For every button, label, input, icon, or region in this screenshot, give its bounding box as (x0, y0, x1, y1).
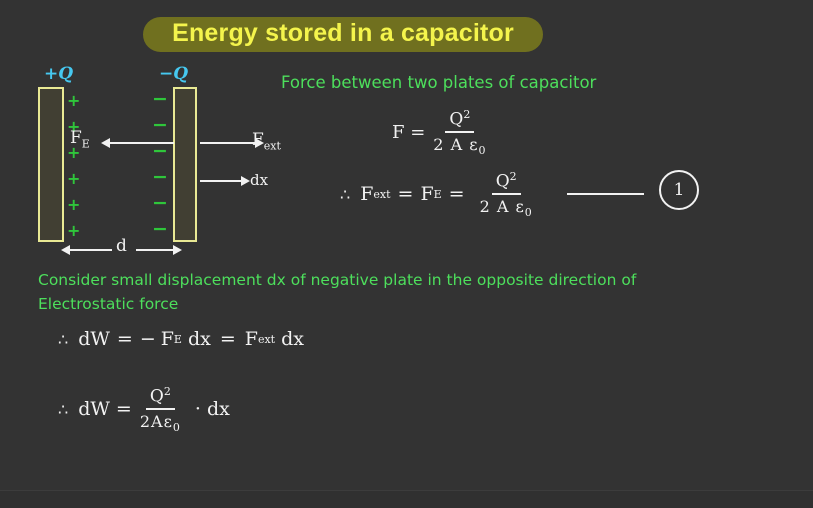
capacitor-diagram: +Q −Q + + + + + + − − − − − − FE Fext dx (28, 62, 288, 267)
plus-charge-mark: + (67, 198, 80, 212)
minus-charge-mark: − (152, 144, 168, 158)
external-force-label: Fext (252, 130, 281, 152)
separation-label: d (116, 236, 127, 256)
equation-work-denominator: 2Aε0 (136, 410, 185, 434)
electrostatic-force-label: FE (70, 128, 90, 150)
dw-symbol: dW = (78, 398, 132, 420)
dx-term-2: dx (281, 328, 304, 350)
force-ext-symbol: F (252, 130, 264, 150)
fext-symbol: F (245, 328, 258, 350)
therefore-symbol: ∴ (340, 185, 350, 204)
electrostatic-force-arrow-line (110, 142, 174, 144)
equation-result: ∴ Fext = FE = Q2 2 A ε0 (340, 170, 541, 219)
equation-work-expanded: ∴ dW = Q2 2Aε0 · dx (58, 385, 230, 434)
slide-title: Energy stored in a capacitor (143, 17, 543, 52)
equation-number-badge: 1 (659, 170, 699, 210)
equation-force-denominator: 2 A ε0 (429, 133, 490, 157)
bottom-strip (0, 491, 813, 508)
positive-plate-label: +Q (44, 64, 73, 84)
equals-sign-2: = (449, 183, 465, 205)
title-text: Energy stored in a capacitor (143, 17, 543, 52)
plus-charge-mark: + (67, 224, 80, 238)
denominator-subscript: 0 (173, 421, 181, 434)
force-heading: Force between two plates of capacitor (281, 73, 596, 92)
numerator-exponent: 2 (510, 170, 517, 183)
force-e-symbol: F (70, 128, 82, 148)
equals-sign-2: = (220, 328, 236, 350)
displacement-arrow-head (241, 176, 250, 186)
dot-dx-term: · dx (195, 398, 230, 420)
separation-arrow-head-left (61, 245, 70, 255)
minus-charge-mark: − (152, 222, 168, 236)
fext-subscript: ext (258, 333, 275, 346)
plus-charge-mark: + (67, 94, 80, 108)
numerator-symbol: Q (449, 110, 463, 130)
fe-subscript: E (434, 188, 442, 201)
equation-result-denominator: 2 A ε0 (476, 195, 537, 219)
equation-work: ∴ dW = − FE dx = Fext dx (58, 328, 304, 350)
separation-arrow-head-right (173, 245, 182, 255)
equation-result-fraction: Q2 2 A ε0 (476, 170, 537, 219)
denominator-subscript: 0 (479, 144, 487, 157)
electrostatic-force-arrow-head (101, 138, 110, 148)
numerator-exponent: 2 (164, 385, 171, 398)
equals-sign-1: = (117, 328, 133, 350)
equals-sign-1: = (398, 183, 414, 205)
negative-plate-label: −Q (159, 64, 188, 84)
minus-charge-mark: − (152, 118, 168, 132)
fe-subscript: E (174, 333, 182, 346)
equation-work-fraction: Q2 2Aε0 (136, 385, 185, 434)
equation-number-rule (567, 193, 644, 195)
force-ext-subscript: ext (264, 139, 281, 152)
external-force-arrow-line (200, 142, 256, 144)
force-e-subscript: E (82, 137, 90, 150)
slide-canvas: Energy stored in a capacitor +Q −Q + + +… (0, 0, 813, 508)
equation-force-numerator: Q2 (445, 108, 474, 133)
equation-work-numerator: Q2 (146, 385, 175, 410)
consider-paragraph: Consider small displacement dx of negati… (38, 268, 718, 316)
fext-subscript: ext (373, 188, 390, 201)
plus-charge-mark: + (67, 172, 80, 186)
positive-plate (38, 87, 64, 242)
separation-arrow-line-left (70, 249, 112, 251)
therefore-symbol: ∴ (58, 330, 68, 349)
separation-arrow-line-right (136, 249, 174, 251)
negative-plate (173, 87, 197, 242)
dx-term-1: dx (188, 328, 211, 350)
equation-result-numerator: Q2 (492, 170, 521, 195)
equation-force-lhs: F = (392, 122, 425, 143)
minus-charge-mark: − (152, 170, 168, 184)
minus-sign: − (140, 328, 156, 350)
fext-symbol: F (360, 183, 373, 205)
minus-charge-mark: − (152, 196, 168, 210)
equation-force-fraction: Q2 2 A ε0 (429, 108, 490, 157)
therefore-symbol: ∴ (58, 400, 68, 419)
dw-symbol: dW (78, 328, 110, 350)
denominator-subscript: 0 (525, 206, 533, 219)
numerator-exponent: 2 (463, 108, 470, 121)
displacement-arrow-line (200, 180, 242, 182)
displacement-label: dx (250, 171, 268, 189)
fe-symbol: F (161, 328, 174, 350)
denominator-symbol: 2 A ε (480, 197, 525, 216)
equation-force: F = Q2 2 A ε0 (392, 108, 495, 157)
numerator-symbol: Q (150, 387, 164, 407)
denominator-symbol: 2Aε (140, 412, 173, 431)
minus-charge-mark: − (152, 92, 168, 106)
fe-symbol: F (420, 183, 433, 205)
denominator-symbol: 2 A ε (433, 135, 478, 154)
numerator-symbol: Q (496, 172, 510, 192)
